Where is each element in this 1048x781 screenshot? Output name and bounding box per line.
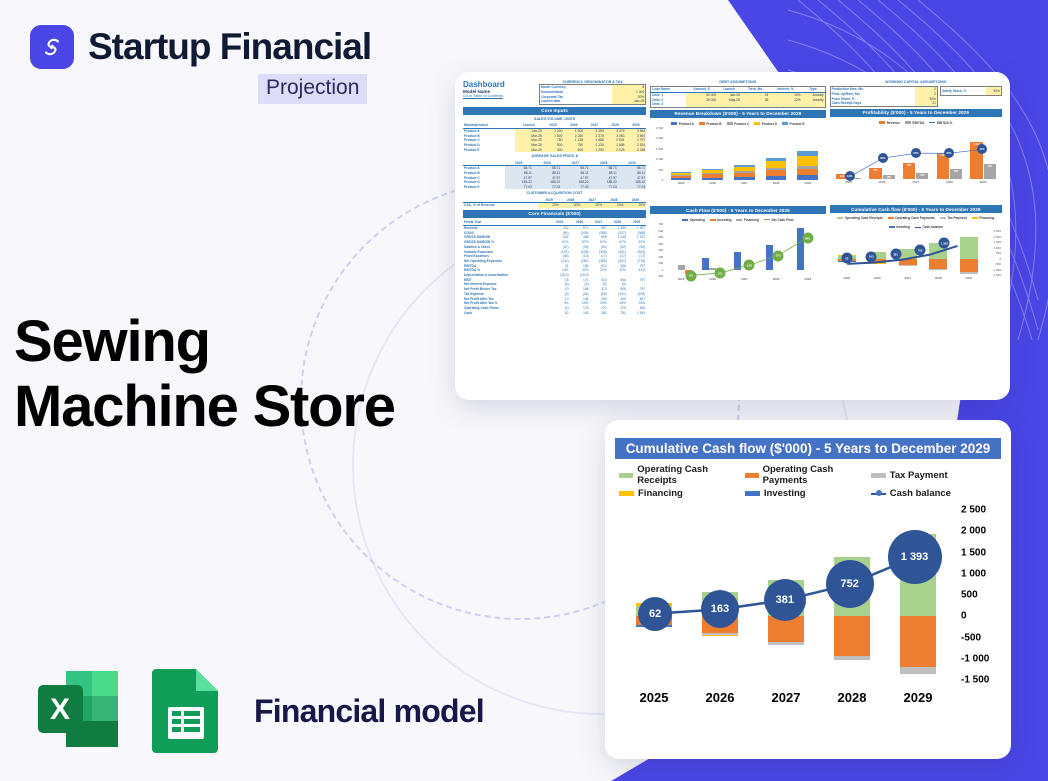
y-tick: -1 500 — [992, 273, 1001, 277]
x-tick: 2027 — [753, 690, 819, 705]
legend-swatch — [619, 491, 634, 496]
row-value[interactable]: Jan-25 — [612, 99, 645, 104]
brand-logo: Startup Financial — [30, 25, 371, 69]
cell-value[interactable] — [802, 102, 825, 107]
legend-item: Operating — [682, 218, 705, 222]
bar-group: 857313 — [903, 139, 928, 179]
chart-legend: OperatingInvestingFinancingNet Cash Flow — [650, 216, 825, 223]
x-tick: 2026 — [864, 276, 891, 285]
bar-label: 792 — [984, 165, 996, 168]
row-label: Debt_3 — [651, 102, 686, 107]
legend-label: EBITDA % — [937, 121, 952, 125]
table-row: Product E77.0377.0377.0377.0377.03 — [463, 185, 646, 190]
legend-item: Net Cash Flow — [764, 218, 793, 222]
cell-value: 77.03 — [505, 185, 533, 190]
data-label-bubble: 1 393 — [888, 530, 942, 584]
y-tick: 400 — [658, 242, 663, 246]
bar-segment — [702, 178, 723, 180]
y-tick: 500 — [658, 235, 663, 239]
e-logo-icon — [30, 25, 74, 69]
bar-label: 571 — [869, 169, 881, 172]
y-tick: 200 — [658, 255, 663, 259]
legend-item: Tax Payment — [940, 216, 967, 220]
x-tick: 2025 — [833, 276, 860, 285]
bar-segment-negative — [929, 269, 947, 270]
legend-swatch — [879, 121, 885, 123]
cell-value: 752 — [608, 310, 627, 315]
bar: 792 — [984, 164, 996, 179]
legend-item: Revenue — [879, 121, 900, 125]
bar: 571 — [869, 168, 881, 179]
svg-text:X: X — [50, 693, 70, 726]
table-of-contents-link[interactable]: Go to Table of Contents — [463, 94, 535, 98]
bar-stack — [960, 231, 978, 275]
bar: 313 — [916, 173, 928, 179]
x-axis: 20252026202720282029 — [832, 276, 984, 285]
y-tick: 0 — [961, 611, 967, 622]
legend-label: Tax Payment — [890, 470, 948, 481]
legend-label: Operating Cash Payments — [895, 216, 935, 220]
cell-value[interactable] — [741, 102, 769, 107]
x-tick: 2025 — [667, 181, 696, 190]
legend-item: Cash balance — [871, 488, 997, 499]
x-axis-labels: 20252026202720282029 — [621, 686, 951, 708]
y-tick: 2 500 — [993, 229, 1001, 233]
data-label: 62 — [686, 270, 697, 281]
legend-item: Operating Cash Receipts — [619, 464, 745, 486]
table-row: Product EMar-254006001 2502 0253 038 — [463, 148, 646, 153]
legend-label: Product D — [762, 122, 777, 126]
cumulative-cash-flow-card[interactable]: Cumulative Cash flow ($'000) - 5 Years t… — [605, 420, 1011, 759]
cell-value[interactable]: 2 025 — [605, 148, 626, 153]
legend-item: Product C — [727, 122, 750, 126]
customer-acquisition-cost-table[interactable]: 20252026202720282029CAC, % of Revenue20%… — [463, 197, 646, 207]
legend-swatch — [888, 217, 894, 219]
chart-legend: Operating Cash ReceiptsOperating Cash Pa… — [615, 462, 1001, 504]
debt-assumptions-table[interactable]: Loan NameAmount, $LaunchTerm, MoInterest… — [650, 86, 825, 108]
chart-legend: RevenueEBITDAEBITDA % — [830, 119, 1002, 126]
y-tick: 0 — [662, 178, 664, 182]
page-title-line1: Sewing — [14, 310, 484, 375]
cumulative-cash-flow-chart-mini[interactable]: Operating Cash ReceiptsOperating Cash Pa… — [830, 215, 1002, 289]
sales-volume-header: SALES VOLUME, UNITS — [463, 117, 646, 121]
cell-value[interactable]: 1 250 — [584, 148, 605, 153]
cell-value[interactable]: 400 — [543, 148, 564, 153]
row-value[interactable]: 21 — [915, 101, 938, 106]
cell-value: 163 — [570, 310, 590, 315]
x-tick: 2029 — [955, 276, 982, 285]
data-label: 37% — [911, 148, 921, 158]
legend-item: Investing — [710, 218, 732, 222]
bar-stack — [636, 510, 672, 680]
y-tick: 2 500 — [656, 126, 664, 130]
bar-segment-negative — [900, 616, 936, 667]
legend-swatch — [682, 219, 688, 221]
legend-swatch — [710, 219, 716, 221]
data-label: 13% — [845, 171, 855, 181]
bar-segment-negative — [929, 259, 947, 269]
row-label: Product E — [463, 148, 515, 153]
data-label: 381 — [890, 249, 901, 260]
bar-stack — [671, 172, 692, 180]
bar-segment-positive — [960, 237, 978, 258]
bar-segment-negative — [899, 265, 917, 266]
x-tick: 2029 — [968, 180, 998, 189]
cumulative-cash-flow-title-mini: Cumulative Cash flow ($'000) - 5 Years t… — [830, 205, 1002, 213]
y-tick: -1 000 — [961, 653, 989, 664]
table-row: Launch dateJan-25 — [540, 99, 646, 104]
data-label: 62 — [841, 253, 852, 264]
data-label: 41% — [977, 144, 987, 154]
data-label-bubble: 381 — [764, 579, 806, 621]
legend-label: Operating — [690, 218, 705, 222]
data-label-bubble: 62 — [638, 597, 672, 631]
row-label: Cash Receipt Days — [830, 101, 915, 106]
brand-subtitle: Projection — [258, 74, 367, 104]
bar-segment — [797, 175, 818, 180]
cell-value[interactable]: 20% — [560, 203, 582, 208]
x-tick: 2027 — [894, 276, 921, 285]
bar-segment — [797, 169, 818, 176]
legend-label: Cash balance — [890, 488, 951, 499]
legend-label: EBITDA — [913, 121, 925, 125]
x-tick: 2029 — [794, 181, 823, 190]
brand-title: Startup Financial — [88, 26, 371, 68]
dashboard-preview-card[interactable]: Dashboard Model Name Go to Table of Cont… — [455, 72, 1010, 400]
chart-legend: Product AProduct BProduct CProduct DProd… — [650, 120, 825, 127]
bar-label: 857 — [903, 164, 915, 167]
legend-swatch — [745, 473, 759, 478]
x-tick: 2027 — [730, 277, 759, 286]
y-tick: 1 500 — [993, 240, 1001, 244]
legend-item: Cash balance — [915, 225, 943, 229]
x-tick: 2028 — [762, 277, 791, 286]
bar-segment-negative — [960, 259, 978, 272]
bar-label: 313 — [916, 174, 928, 177]
legend-item: Investing — [745, 488, 871, 499]
legend-label: Investing — [764, 488, 806, 499]
format-badges: X Financial model — [32, 663, 484, 760]
table-row: CAC, % of Revenue20%20%20%20%20% — [463, 203, 646, 208]
legend-label: Product A — [679, 122, 694, 126]
legend-item: Tax Payment — [871, 464, 997, 486]
data-label: 218 — [744, 260, 755, 271]
legend-swatch — [905, 121, 911, 123]
table-row: Cash Receipt Days21 — [830, 101, 937, 106]
bar-stack — [797, 151, 818, 180]
data-label: 640 — [802, 233, 813, 244]
legend-item: Product B — [699, 122, 722, 126]
y-tick: 500 — [996, 251, 1001, 255]
data-label-bubble: 752 — [826, 560, 874, 608]
working-capital-header: WORKING CAPITAL ASSUMPTIONS — [830, 80, 1002, 84]
cell-value: 77.03 — [533, 185, 561, 190]
cell-value[interactable] — [686, 102, 717, 107]
x-tick: 2026 — [698, 181, 727, 190]
x-tick: 2028 — [925, 276, 952, 285]
legend-swatch — [915, 227, 921, 228]
y-tick: 1 500 — [961, 547, 986, 558]
bar-segment-negative — [834, 616, 870, 655]
legend-item: EBITDA — [905, 121, 924, 125]
core-financials-table[interactable]: Fiscal Year20252026202720282029Revenue24… — [463, 220, 646, 315]
data-label: 752 — [914, 245, 925, 256]
data-label-bubble: 163 — [701, 590, 739, 628]
revenue-breakdown-chart[interactable]: Product AProduct BProduct CProduct DProd… — [650, 120, 825, 204]
bar-stack — [734, 165, 755, 180]
legend-swatch — [736, 219, 742, 221]
chart-bars — [665, 128, 823, 180]
y-tick: 2 000 — [656, 136, 664, 140]
legend-label: Revenue — [887, 121, 900, 125]
legend-item: Product E — [782, 122, 805, 126]
legend-label: Financing — [638, 488, 683, 499]
bar — [734, 252, 741, 270]
bar-segment — [766, 176, 787, 180]
y-tick: -1 000 — [992, 268, 1001, 272]
cell-value: 77.03 — [561, 185, 589, 190]
y-tick: -1 500 — [961, 675, 989, 686]
cell-value[interactable]: 600 — [563, 148, 584, 153]
legend-swatch — [889, 226, 895, 228]
legend-item: Operating Cash Payments — [745, 464, 871, 486]
y-axis: 7006005004003002001000-100 — [650, 224, 664, 276]
bar-segment-negative — [900, 667, 936, 674]
x-tick: 2027 — [901, 180, 931, 189]
cac-header: CUSTOMER ACQUISITION COST — [463, 191, 646, 195]
profitability-title: Profitability ($'000) - 5 Years to Decem… — [830, 109, 1002, 117]
x-tick: 2025 — [621, 690, 687, 705]
row-label: Cash — [463, 310, 550, 315]
dashboard-title: Dashboard — [463, 80, 535, 89]
x-tick: 2026 — [698, 277, 727, 286]
cell-value[interactable]: 20% — [625, 203, 647, 208]
bar: 185 — [883, 175, 895, 179]
legend-swatch — [940, 217, 946, 219]
cell-value: 77.03 — [590, 185, 618, 190]
cell-value[interactable]: 20% — [538, 203, 560, 208]
debt-block-header: DEBT ASSUMPTIONS — [650, 80, 825, 84]
chart-plot-area: 2 5002 0001 5001 0005000-500-1 000-1 500… — [615, 510, 1001, 710]
x-tick: 2029 — [794, 277, 823, 286]
cell-value[interactable]: 20% — [581, 203, 603, 208]
bar-segment-negative — [768, 642, 804, 645]
legend-swatch — [671, 122, 677, 124]
data-label: 101 — [715, 268, 726, 279]
legend-label: Tax Payment — [947, 216, 966, 220]
legend-label: Financing — [744, 218, 759, 222]
bar — [702, 258, 709, 269]
legend-swatch — [754, 122, 760, 124]
core-inputs-band: Core Inputs — [463, 107, 646, 115]
working-capital-table[interactable]: Production time, Mo2 Prod. up/Rem, Mo2 P… — [830, 86, 938, 107]
table-row: Debt_3 — [651, 102, 825, 107]
legend-swatch — [745, 491, 760, 496]
table-row: Safety Stock, %30% — [941, 87, 1002, 96]
legend-swatch — [619, 473, 633, 478]
row-label: Launch date — [540, 99, 613, 104]
chart-title: Cumulative Cash flow ($'000) - 5 Years t… — [615, 438, 1001, 459]
y-axis-labels: 2 5002 0001 5001 0005000-500-1 000-1 500 — [955, 510, 1001, 680]
page-title-line2: Machine Store — [14, 375, 484, 440]
bar-segment — [734, 177, 755, 180]
y-tick: 700 — [658, 222, 663, 226]
legend-label: Operating Cash Payments — [763, 464, 871, 486]
x-tick: 2028 — [819, 690, 885, 705]
currency-assumptions-table[interactable]: Model Currency$ Denomination1 000 Corpor… — [539, 84, 646, 105]
x-axis: 20252026202720282029 — [832, 180, 1000, 189]
data-label: 1 393 — [939, 238, 950, 249]
data-label: 163 — [866, 251, 877, 262]
y-tick: 1 000 — [961, 568, 986, 579]
y-tick: 100 — [658, 261, 663, 265]
chart-bars: 621633817521 393 — [832, 231, 984, 275]
legend-swatch — [727, 122, 733, 124]
bar-segment — [671, 178, 692, 180]
bar-segment-negative — [960, 272, 978, 274]
x-axis: 20252026202720282029 — [665, 181, 823, 190]
bar-group — [671, 224, 692, 276]
legend-item: Product A — [671, 122, 694, 126]
y-tick: 1 000 — [656, 157, 664, 161]
y-tick: 0 — [662, 268, 664, 272]
bar: 857 — [903, 163, 915, 179]
cell-value: 62 — [550, 310, 570, 315]
data-label: 371 — [773, 250, 784, 261]
legend-item: Financing — [972, 216, 995, 220]
cell-value[interactable]: 20% — [603, 203, 625, 208]
data-label: 32% — [878, 153, 888, 163]
data-label: 37% — [944, 148, 954, 158]
safety-stock-table[interactable]: Safety Stock, %30% — [940, 86, 1002, 96]
x-tick: 2028 — [934, 180, 964, 189]
legend-label: Net Cash Flow — [771, 218, 793, 222]
legend-label: Investing — [717, 218, 731, 222]
y-tick: 500 — [961, 590, 978, 601]
legend-item: EBITDA % — [929, 121, 952, 125]
avg-price-header: AVERAGE SALES PRICE, $ — [463, 154, 646, 158]
x-tick: 2027 — [730, 181, 759, 190]
legend-item: Investing — [889, 225, 911, 229]
row-label: CAC, % of Revenue — [463, 203, 538, 208]
dashboard-right-column: WORKING CAPITAL ASSUMPTIONS Production t… — [830, 80, 1002, 315]
row-value[interactable]: 30% — [986, 87, 1001, 96]
microsoft-excel-icon: X — [32, 663, 124, 760]
x-tick: 2028 — [762, 181, 791, 190]
legend-label: Financing — [979, 216, 994, 220]
y-tick: -500 — [961, 632, 981, 643]
chart-legend: Operating Cash ReceiptsOperating Cash Pa… — [830, 215, 1002, 230]
y-axis: 2 5002 0001 5001 0005000 — [650, 128, 664, 180]
dashboard-left-column: Dashboard Model Name Go to Table of Cont… — [463, 80, 646, 315]
cash-flow-title: Cash Flow ($'000) - 5 Years to December … — [650, 206, 825, 214]
core-financials-band: Core Financials ($'000) — [463, 210, 646, 218]
bar — [766, 245, 773, 269]
average-sales-price-table[interactable]: 20252026202720282029Product A58.7158.715… — [463, 160, 646, 189]
bar-group: 1 385506 — [937, 139, 962, 179]
bar: 506 — [950, 169, 962, 179]
legend-swatch — [782, 122, 788, 124]
y-tick: 2 000 — [993, 235, 1001, 239]
legend-label: Product C — [734, 122, 749, 126]
cell-value: 381 — [590, 310, 608, 315]
bar-segment — [797, 156, 818, 166]
format-label: Financial model — [254, 693, 484, 730]
x-tick: 2029 — [885, 690, 951, 705]
legend-label: Operating Cash Receipts — [845, 216, 883, 220]
legend-swatch — [929, 122, 935, 123]
profitability-chart[interactable]: RevenueEBITDAEBITDA % 242355711858573131… — [830, 119, 1002, 203]
cash-flow-chart[interactable]: OperatingInvestingFinancingNet Cash Flow… — [650, 216, 825, 300]
bar-segment-negative — [702, 635, 738, 636]
legend-swatch — [871, 473, 886, 478]
legend-swatch — [837, 217, 843, 219]
legend-item: Financing — [736, 218, 759, 222]
bar-stack — [766, 158, 787, 180]
legend-label: Cash balance — [923, 225, 944, 229]
legend-item: Operating Cash Receipts — [837, 216, 882, 220]
legend-swatch — [871, 493, 886, 495]
legend-item: Product D — [754, 122, 777, 126]
cell-value[interactable] — [717, 102, 741, 107]
table-row: Cash621633817521 393 — [463, 310, 646, 315]
y-tick: 0 — [999, 257, 1001, 261]
bar — [678, 265, 685, 270]
legend-label: Product E — [790, 122, 805, 126]
bar-segment-negative — [899, 259, 917, 266]
y-tick: 1 500 — [656, 147, 664, 151]
cell-value[interactable]: 3 038 — [626, 148, 647, 153]
y-tick: 2 000 — [961, 526, 986, 537]
row-label: Safety Stock, % — [941, 87, 987, 96]
legend-label: Operating Cash Receipts — [637, 464, 745, 486]
cell-value[interactable] — [769, 102, 801, 107]
y-tick: 500 — [658, 168, 663, 172]
legend-swatch — [764, 219, 770, 220]
cell-value[interactable]: Mar-25 — [515, 148, 543, 153]
cell-value: 77.03 — [618, 185, 646, 190]
y-tick: 600 — [658, 229, 663, 233]
legend-label: Product B — [706, 122, 721, 126]
y-tick: -500 — [995, 262, 1001, 266]
bar-stack — [899, 231, 917, 275]
sales-volume-table[interactable]: Market/productLaunch20252026202720282029… — [463, 123, 646, 152]
bar-stack — [702, 169, 723, 180]
y-axis: 2 5002 0001 5001 0005000-500-1 000-1 500 — [986, 231, 1002, 275]
legend-swatch — [972, 217, 978, 219]
bar-label: 506 — [950, 170, 962, 173]
legend-item: Financing — [619, 488, 745, 499]
bar-segment-negative — [834, 656, 870, 660]
dashboard-middle-column: DEBT ASSUMPTIONS Loan NameAmount, $Launc… — [650, 80, 825, 315]
google-sheets-icon — [146, 663, 226, 760]
legend-label: Investing — [896, 225, 910, 229]
y-tick: 300 — [658, 248, 663, 252]
legend-swatch — [699, 122, 705, 124]
page-title: Sewing Machine Store — [14, 310, 484, 440]
cell-value: 1 393 — [627, 310, 646, 315]
y-tick: 2 500 — [961, 505, 986, 516]
y-tick: 1 000 — [993, 246, 1001, 250]
y-tick: -100 — [657, 274, 663, 278]
x-tick: 2026 — [867, 180, 897, 189]
x-tick: 2026 — [687, 690, 753, 705]
row-label: Product E — [463, 185, 505, 190]
legend-item: Operating Cash Payments — [888, 216, 935, 220]
revenue-breakdown-title: Revenue Breakdown ($'000) - 5 Years to D… — [650, 110, 825, 118]
